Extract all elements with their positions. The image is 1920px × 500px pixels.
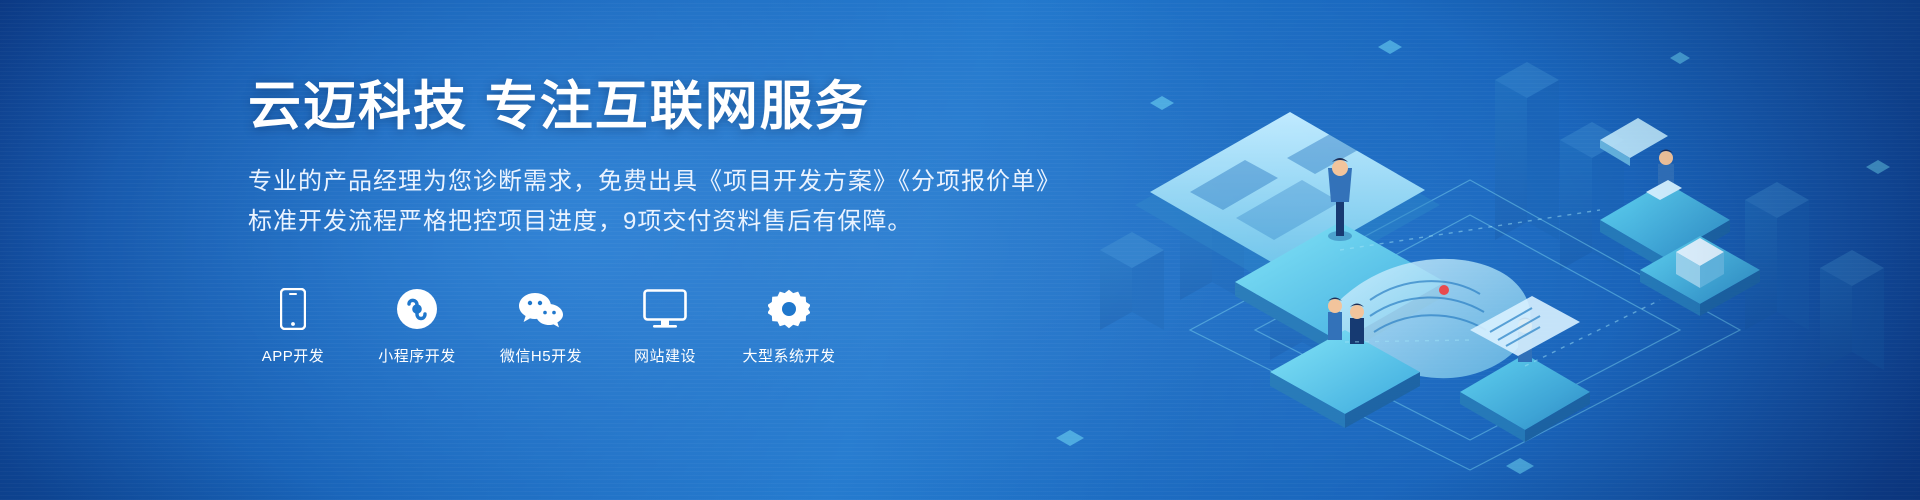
service-item-system[interactable]: 大型系统开发 bbox=[744, 286, 834, 366]
illustration-container bbox=[1040, 0, 1920, 500]
monitor-icon bbox=[643, 286, 687, 332]
service-item-miniprogram[interactable]: 小程序开发 bbox=[372, 286, 462, 366]
service-label: 微信H5开发 bbox=[500, 345, 582, 366]
service-item-app[interactable]: APP开发 bbox=[248, 286, 338, 366]
subtitle-line-2: 标准开发流程严格把控项目进度，9项交付资料售后有保障。 bbox=[248, 202, 1108, 242]
service-item-wechat-h5[interactable]: 微信H5开发 bbox=[496, 286, 586, 366]
subtitle-line-1: 专业的产品经理为您诊断需求，免费出具《项目开发方案》《分项报价单》 bbox=[248, 162, 1108, 202]
service-label: 大型系统开发 bbox=[743, 345, 836, 366]
alert-dot bbox=[1439, 285, 1449, 295]
mini-program-icon bbox=[396, 286, 438, 332]
service-label: 网站建设 bbox=[634, 345, 696, 366]
wechat-icon bbox=[518, 286, 564, 332]
hero-banner: 云迈科技 专注互联网服务 专业的产品经理为您诊断需求，免费出具《项目开发方案》《… bbox=[0, 0, 1920, 500]
gear-icon bbox=[768, 286, 810, 332]
banner-text-block: 云迈科技 专注互联网服务 专业的产品经理为您诊断需求，免费出具《项目开发方案》《… bbox=[248, 78, 1108, 241]
service-label: 小程序开发 bbox=[378, 345, 456, 366]
service-item-website[interactable]: 网站建设 bbox=[620, 286, 710, 366]
isometric-tech-team-illustration bbox=[1040, 0, 1920, 500]
mobile-phone-icon bbox=[280, 286, 306, 332]
service-icon-row: APP开发 小程序开发 bbox=[248, 286, 834, 366]
service-label: APP开发 bbox=[262, 345, 325, 366]
page-title: 云迈科技 专注互联网服务 bbox=[248, 78, 1108, 136]
